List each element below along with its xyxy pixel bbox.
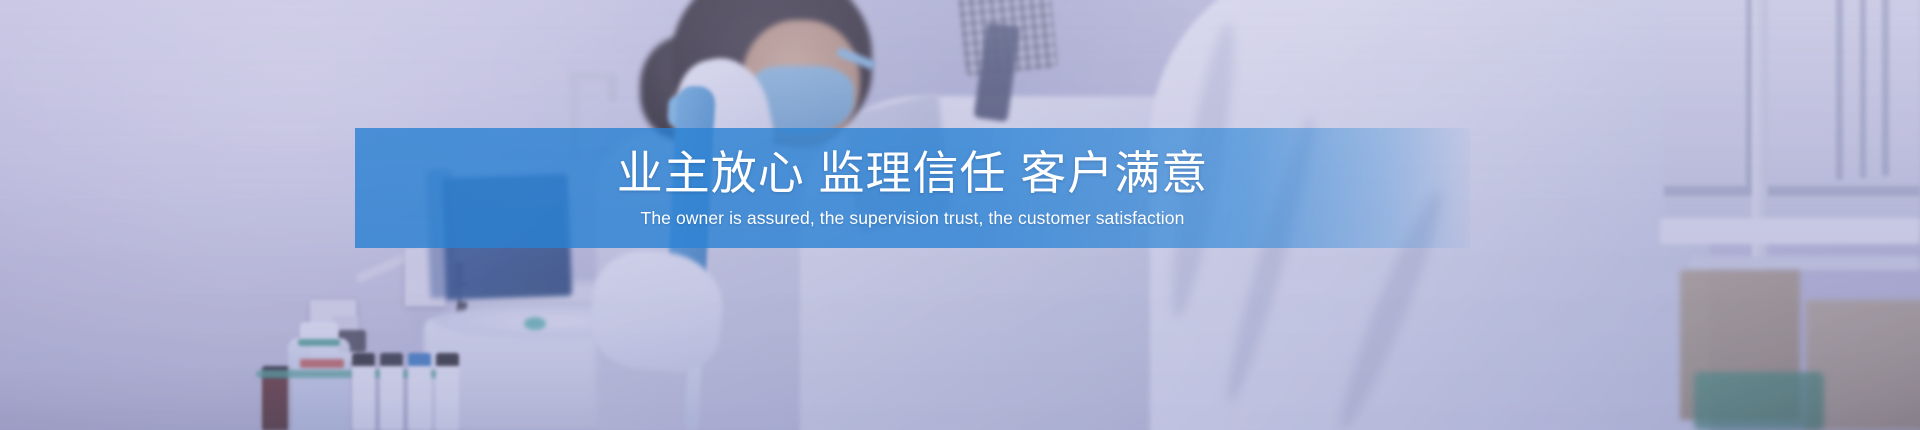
hero-banner: 业主放心 监理信任 客户满意 The owner is assured, the… xyxy=(0,0,1920,430)
sample-vial xyxy=(408,356,431,430)
sample-vial xyxy=(380,356,403,430)
centrifuge-indicator xyxy=(524,317,546,330)
window-mullion xyxy=(1664,186,1920,196)
sample-vial xyxy=(352,356,375,430)
window-mullion xyxy=(1860,0,1866,178)
vial-cap xyxy=(408,353,431,366)
banner-headline: 业主放心 监理信任 客户满意 xyxy=(617,146,1209,200)
window-mullion xyxy=(1882,0,1889,176)
sample-vial xyxy=(436,356,459,430)
vial-cap xyxy=(380,353,403,366)
bottle-label-ring xyxy=(298,339,340,346)
faucet-spout xyxy=(608,76,617,102)
window-sill xyxy=(1660,218,1920,244)
vial-cap xyxy=(436,353,459,366)
water-bottle xyxy=(288,338,350,430)
caption-text-group: 业主放心 监理信任 客户满意 The owner is assured, the… xyxy=(355,128,1470,248)
vial-cap xyxy=(352,353,375,366)
rack-label-strip xyxy=(300,359,344,368)
window-mullion xyxy=(1836,0,1843,180)
storage-shelf xyxy=(1690,256,1920,270)
banner-subheadline: The owner is assured, the supervision tr… xyxy=(641,207,1185,230)
green-supply-item xyxy=(1694,372,1824,430)
